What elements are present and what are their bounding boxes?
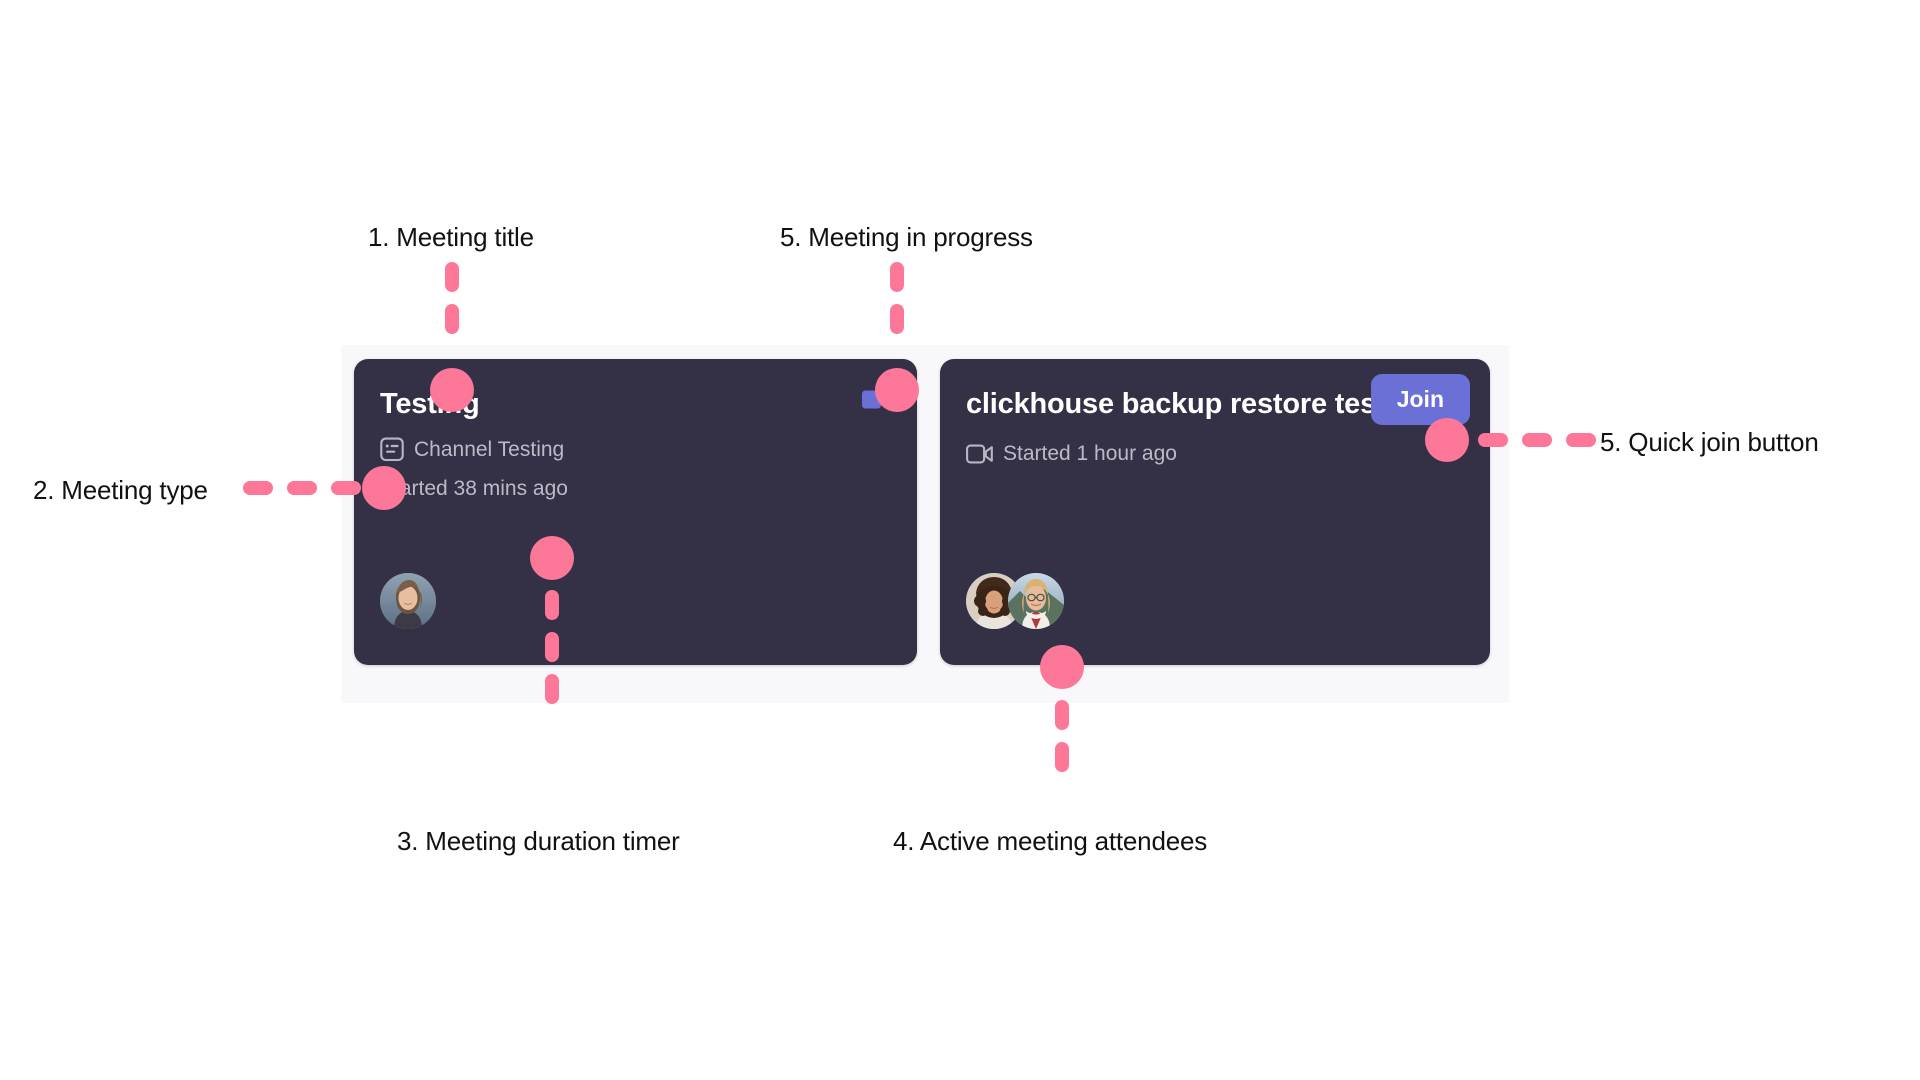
meeting-type-row: Channel Testing — [380, 437, 891, 462]
annotation-label-meeting-in-progress: 5. Meeting in progress — [780, 222, 1033, 253]
annotation-label-attendees: 4. Active meeting attendees — [893, 826, 1207, 857]
meetings-panel: Testing Channel Testing Started 38 mins … — [341, 345, 1509, 703]
channel-icon — [380, 437, 404, 462]
annotation-label-duration-timer: 3. Meeting duration timer — [397, 826, 680, 857]
video-camera-outline-icon — [966, 444, 993, 464]
active-meeting-attendees[interactable] — [966, 573, 1064, 629]
meeting-card-clickhouse[interactable]: clickhouse backup restore test Started 1… — [940, 359, 1490, 665]
annotation-dot-meeting-in-progress — [875, 368, 919, 412]
screenshot-root: Testing Channel Testing Started 38 mins … — [0, 0, 1920, 1080]
annotation-dot-meeting-type — [362, 466, 406, 510]
annotation-dot-duration-timer — [530, 536, 574, 580]
attendee-avatar[interactable] — [380, 573, 436, 629]
annotation-dot-attendees — [1040, 645, 1084, 689]
meeting-card-content: clickhouse backup restore test Started 1… — [940, 359, 1490, 665]
meeting-type-row: Started 1 hour ago — [966, 443, 1464, 464]
meeting-title: clickhouse backup restore test — [966, 387, 1386, 421]
meeting-duration-timer: Started 38 mins ago — [380, 478, 891, 499]
annotation-label-meeting-type: 2. Meeting type — [33, 475, 208, 506]
annotation-label-meeting-title: 1. Meeting title — [368, 222, 534, 253]
attendee-avatar[interactable] — [1008, 573, 1064, 629]
annotation-dot-quick-join — [1425, 418, 1469, 462]
annotation-dot-meeting-title — [430, 368, 474, 412]
active-meeting-attendees[interactable] — [380, 573, 436, 629]
meeting-duration-timer: Started 1 hour ago — [1003, 443, 1177, 464]
meeting-type-label: Channel Testing — [414, 439, 564, 460]
annotation-label-quick-join: 5. Quick join button — [1600, 427, 1819, 458]
quick-join-button[interactable]: Join — [1371, 374, 1470, 425]
